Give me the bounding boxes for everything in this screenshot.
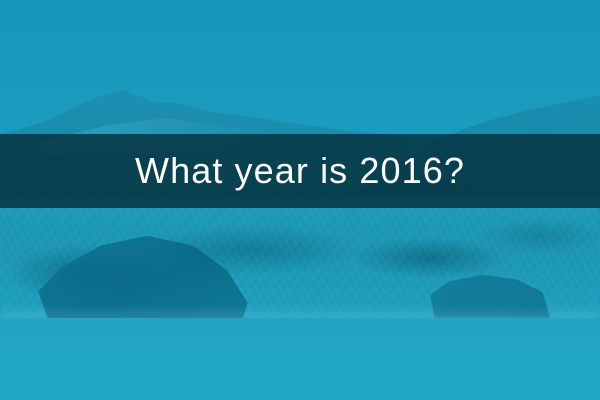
banner-title: What year is 2016? xyxy=(135,153,465,189)
water-region xyxy=(0,318,600,400)
banner-image: What year is 2016? xyxy=(0,0,600,400)
caption-band: What year is 2016? xyxy=(0,134,600,208)
